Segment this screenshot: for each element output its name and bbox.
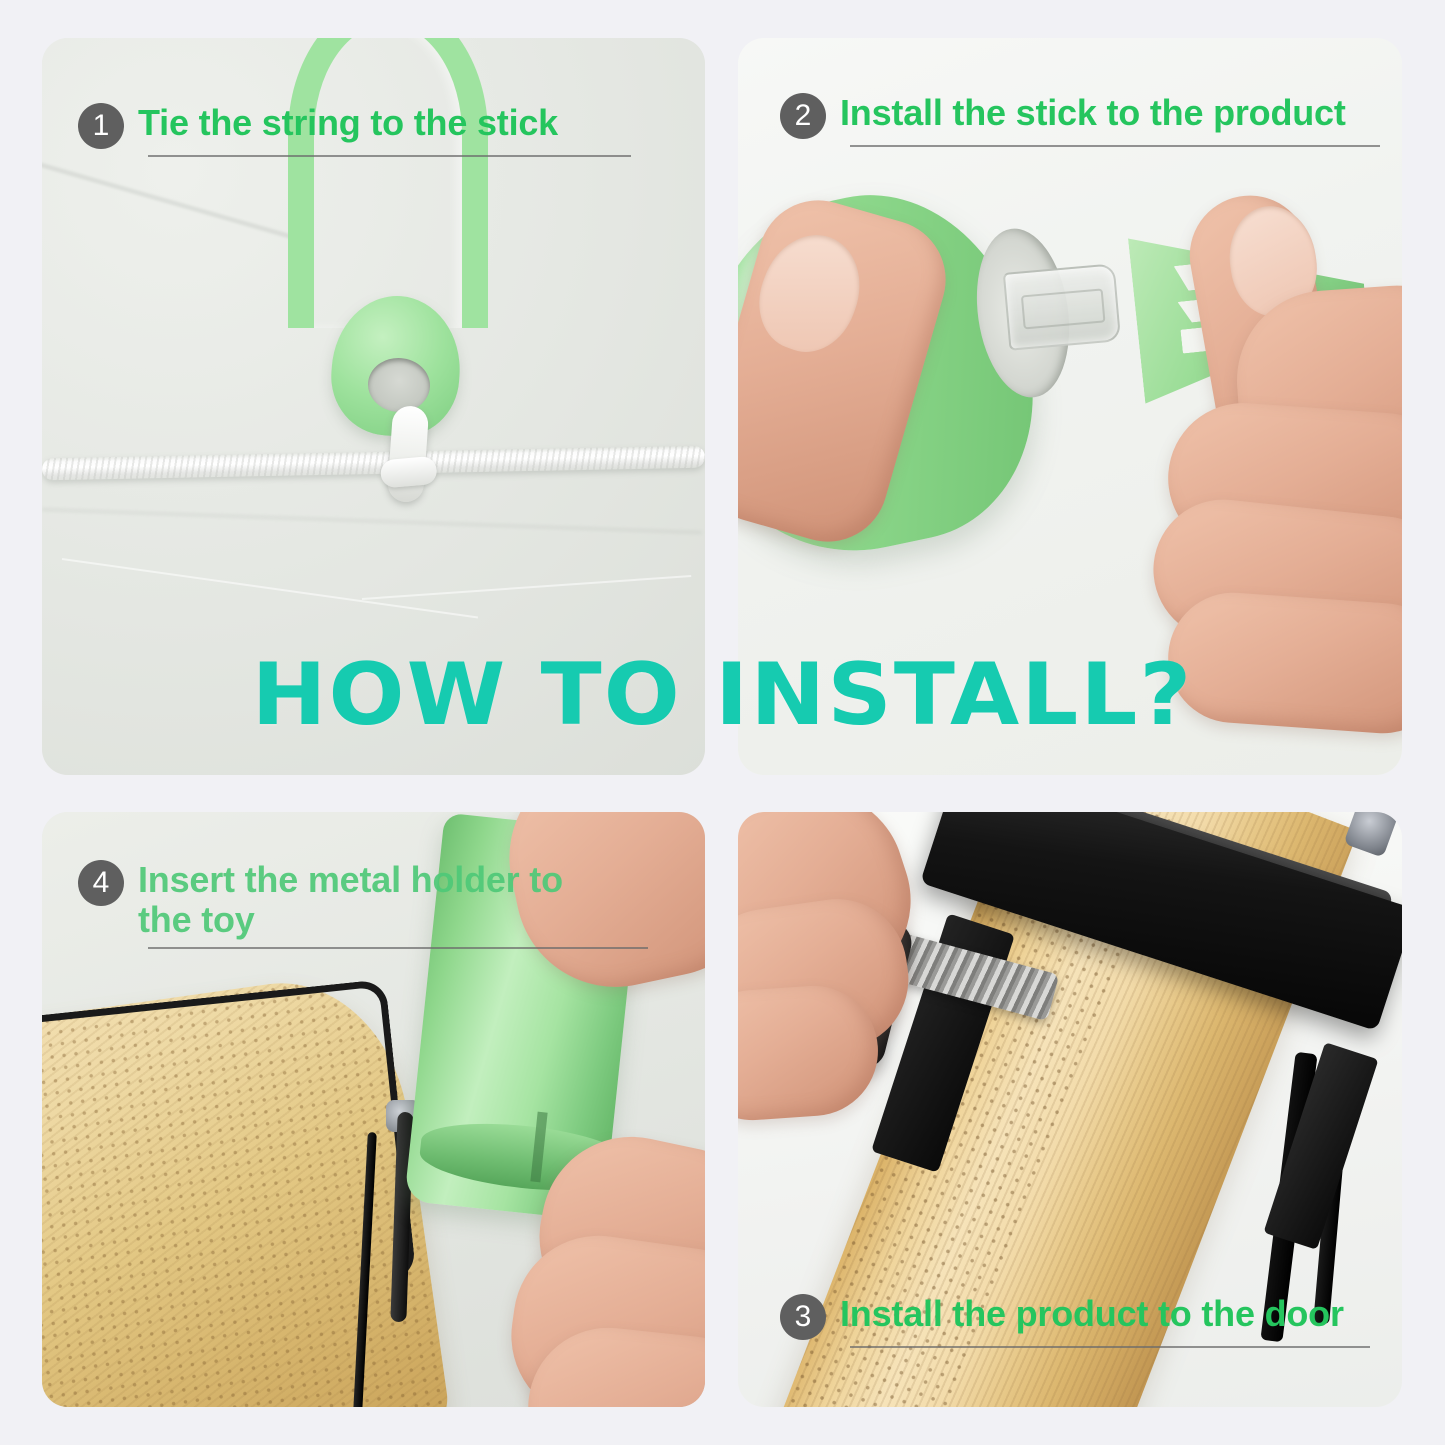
- step-1-badge: 1: [78, 103, 124, 149]
- step-2-label: Install the stick to the product: [840, 93, 1346, 133]
- infographic-root: 1 Tie the string to the stick 2 Install …: [0, 0, 1445, 1445]
- clear-plastic-peg: [1003, 263, 1121, 350]
- step-3-label: Install the product to the door: [840, 1294, 1344, 1334]
- string-knot: [387, 405, 430, 503]
- step-2-underline: [850, 145, 1380, 147]
- step-4-underline: [148, 947, 648, 949]
- step-3-underline: [850, 1346, 1370, 1348]
- step-4-caption: 4 Insert the metal holder to the toy: [78, 860, 638, 949]
- step-1-caption: 1 Tie the string to the stick: [78, 103, 638, 157]
- step-1-label: Tie the string to the stick: [138, 103, 558, 143]
- step-3-badge: 3: [780, 1294, 826, 1340]
- page-title: HOW TO INSTALL?: [0, 652, 1445, 738]
- step-2-badge: 2: [780, 93, 826, 139]
- step-1-underline: [148, 155, 631, 157]
- step-4-badge: 4: [78, 860, 124, 906]
- green-hook-loop: [288, 38, 488, 328]
- step-3-caption: 3 Install the product to the door: [780, 1294, 1390, 1348]
- step-4-label: Insert the metal holder to the toy: [138, 860, 563, 941]
- step-2-caption: 2 Install the stick to the product: [780, 93, 1390, 147]
